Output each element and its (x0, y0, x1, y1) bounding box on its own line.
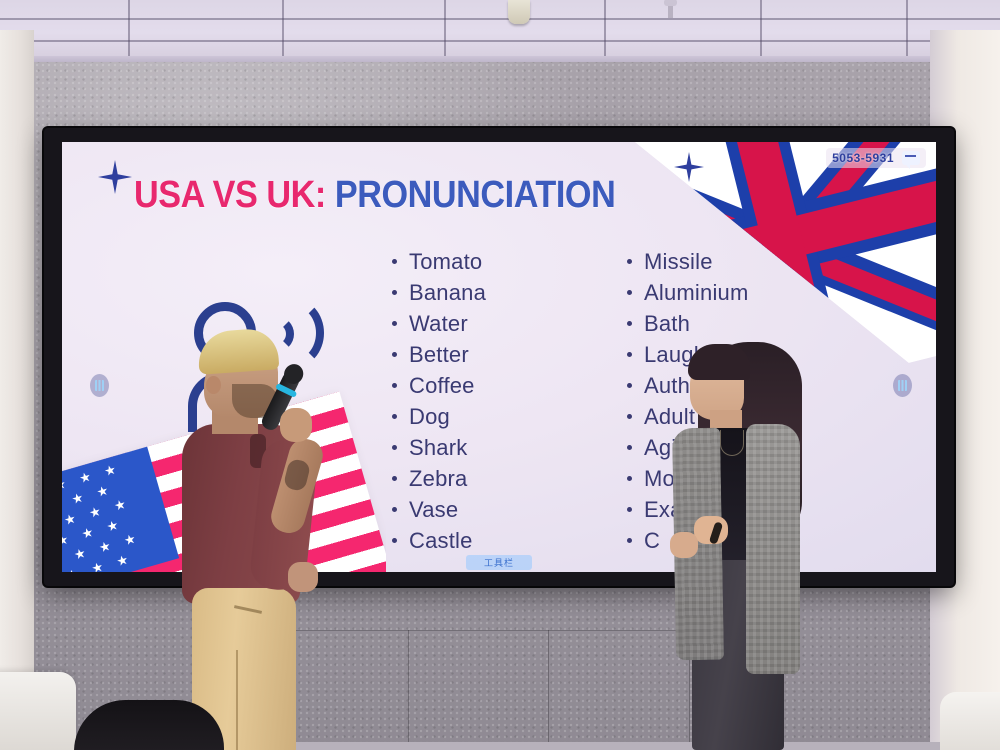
word-label: Bath (644, 311, 690, 337)
bullet-icon (627, 445, 632, 450)
word-label: Banana (409, 280, 486, 306)
bullet-icon (627, 290, 632, 295)
female-hand-left (670, 532, 698, 558)
bullet-icon (627, 538, 632, 543)
list-item: Castle (392, 525, 486, 556)
audience-member (74, 700, 224, 750)
male-hand-holding-mic (280, 408, 312, 442)
list-item: Shark (392, 432, 486, 463)
necklace (720, 430, 744, 456)
list-item: Aluminium (627, 277, 749, 308)
bullet-icon (392, 414, 397, 419)
word-label: Better (409, 342, 469, 368)
list-item: Better (392, 339, 486, 370)
word-label: Dog (409, 404, 450, 430)
list-item: Banana (392, 277, 486, 308)
word-label: C (644, 528, 660, 554)
list-item: Tomato (392, 246, 486, 277)
presenter-male (176, 330, 351, 750)
four-point-star-icon (674, 152, 704, 182)
male-ear (206, 376, 221, 394)
bullet-icon (392, 445, 397, 450)
list-item: Water (392, 308, 486, 339)
sidebar-toggle-icon-left[interactable] (90, 374, 109, 397)
ceiling (0, 0, 1000, 60)
word-column-left: Tomato Banana Water Better Coffee Dog Sh… (392, 246, 486, 556)
left-wall (0, 30, 34, 750)
word-label: Coffee (409, 373, 475, 399)
bullet-icon (627, 476, 632, 481)
bullet-icon (392, 259, 397, 264)
list-item: Coffee (392, 370, 486, 401)
word-label: Tomato (409, 249, 482, 275)
female-hair-front (688, 344, 750, 380)
word-label: Castle (409, 528, 473, 554)
female-blazer-right (746, 424, 800, 674)
bullet-icon (392, 290, 397, 295)
bullet-icon (392, 321, 397, 326)
male-hand-lower (288, 562, 318, 592)
bullet-icon (627, 383, 632, 388)
bullet-icon (392, 383, 397, 388)
bullet-icon (627, 414, 632, 419)
floating-toolbar[interactable]: 工具栏 (466, 555, 532, 570)
leg-seam (236, 650, 238, 750)
male-hair (197, 327, 280, 374)
bullet-icon (392, 507, 397, 512)
word-label: Zebra (409, 466, 467, 492)
page-title: USA VS UK: PRONUNCIATION (134, 174, 615, 217)
chair-foreground-right (940, 692, 1000, 750)
word-label: Missile (644, 249, 713, 275)
bullet-icon (627, 507, 632, 512)
four-point-star-icon (98, 160, 132, 194)
list-item: Zebra (392, 463, 486, 494)
ceiling-fixture-icon (668, 2, 673, 18)
status-badge: 5053-5931 (826, 148, 926, 168)
word-label: Water (409, 311, 468, 337)
device-code-label: 5053-5931 (832, 151, 894, 165)
list-item: Dog (392, 401, 486, 432)
smoke-detector-icon (508, 0, 530, 24)
bullet-icon (392, 538, 397, 543)
title-topic-part: PRONUNCIATION (326, 174, 615, 216)
bullet-icon (627, 259, 632, 264)
sidebar-toggle-icon-right[interactable] (893, 374, 912, 397)
toolbar-label: 工具栏 (484, 556, 514, 569)
presenter-female (668, 336, 828, 750)
chair-foreground-left (0, 672, 76, 750)
word-label: Vase (409, 497, 458, 523)
word-label: Shark (409, 435, 467, 461)
classroom-scene: ★ ★ ★ ★ ★ ★ ★ ★ ★ ★ ★ ★ ★ ★ ★ (0, 0, 1000, 750)
bullet-icon (392, 352, 397, 357)
list-item: Bath (627, 308, 749, 339)
bullet-icon (392, 476, 397, 481)
list-item: Missile (627, 246, 749, 277)
word-label: Aluminium (644, 280, 749, 306)
bullet-icon (627, 321, 632, 326)
chat-bubble-icon[interactable] (902, 151, 920, 165)
title-usa-part: USA VS UK: (134, 174, 326, 216)
list-item: Vase (392, 494, 486, 525)
bullet-icon (627, 352, 632, 357)
